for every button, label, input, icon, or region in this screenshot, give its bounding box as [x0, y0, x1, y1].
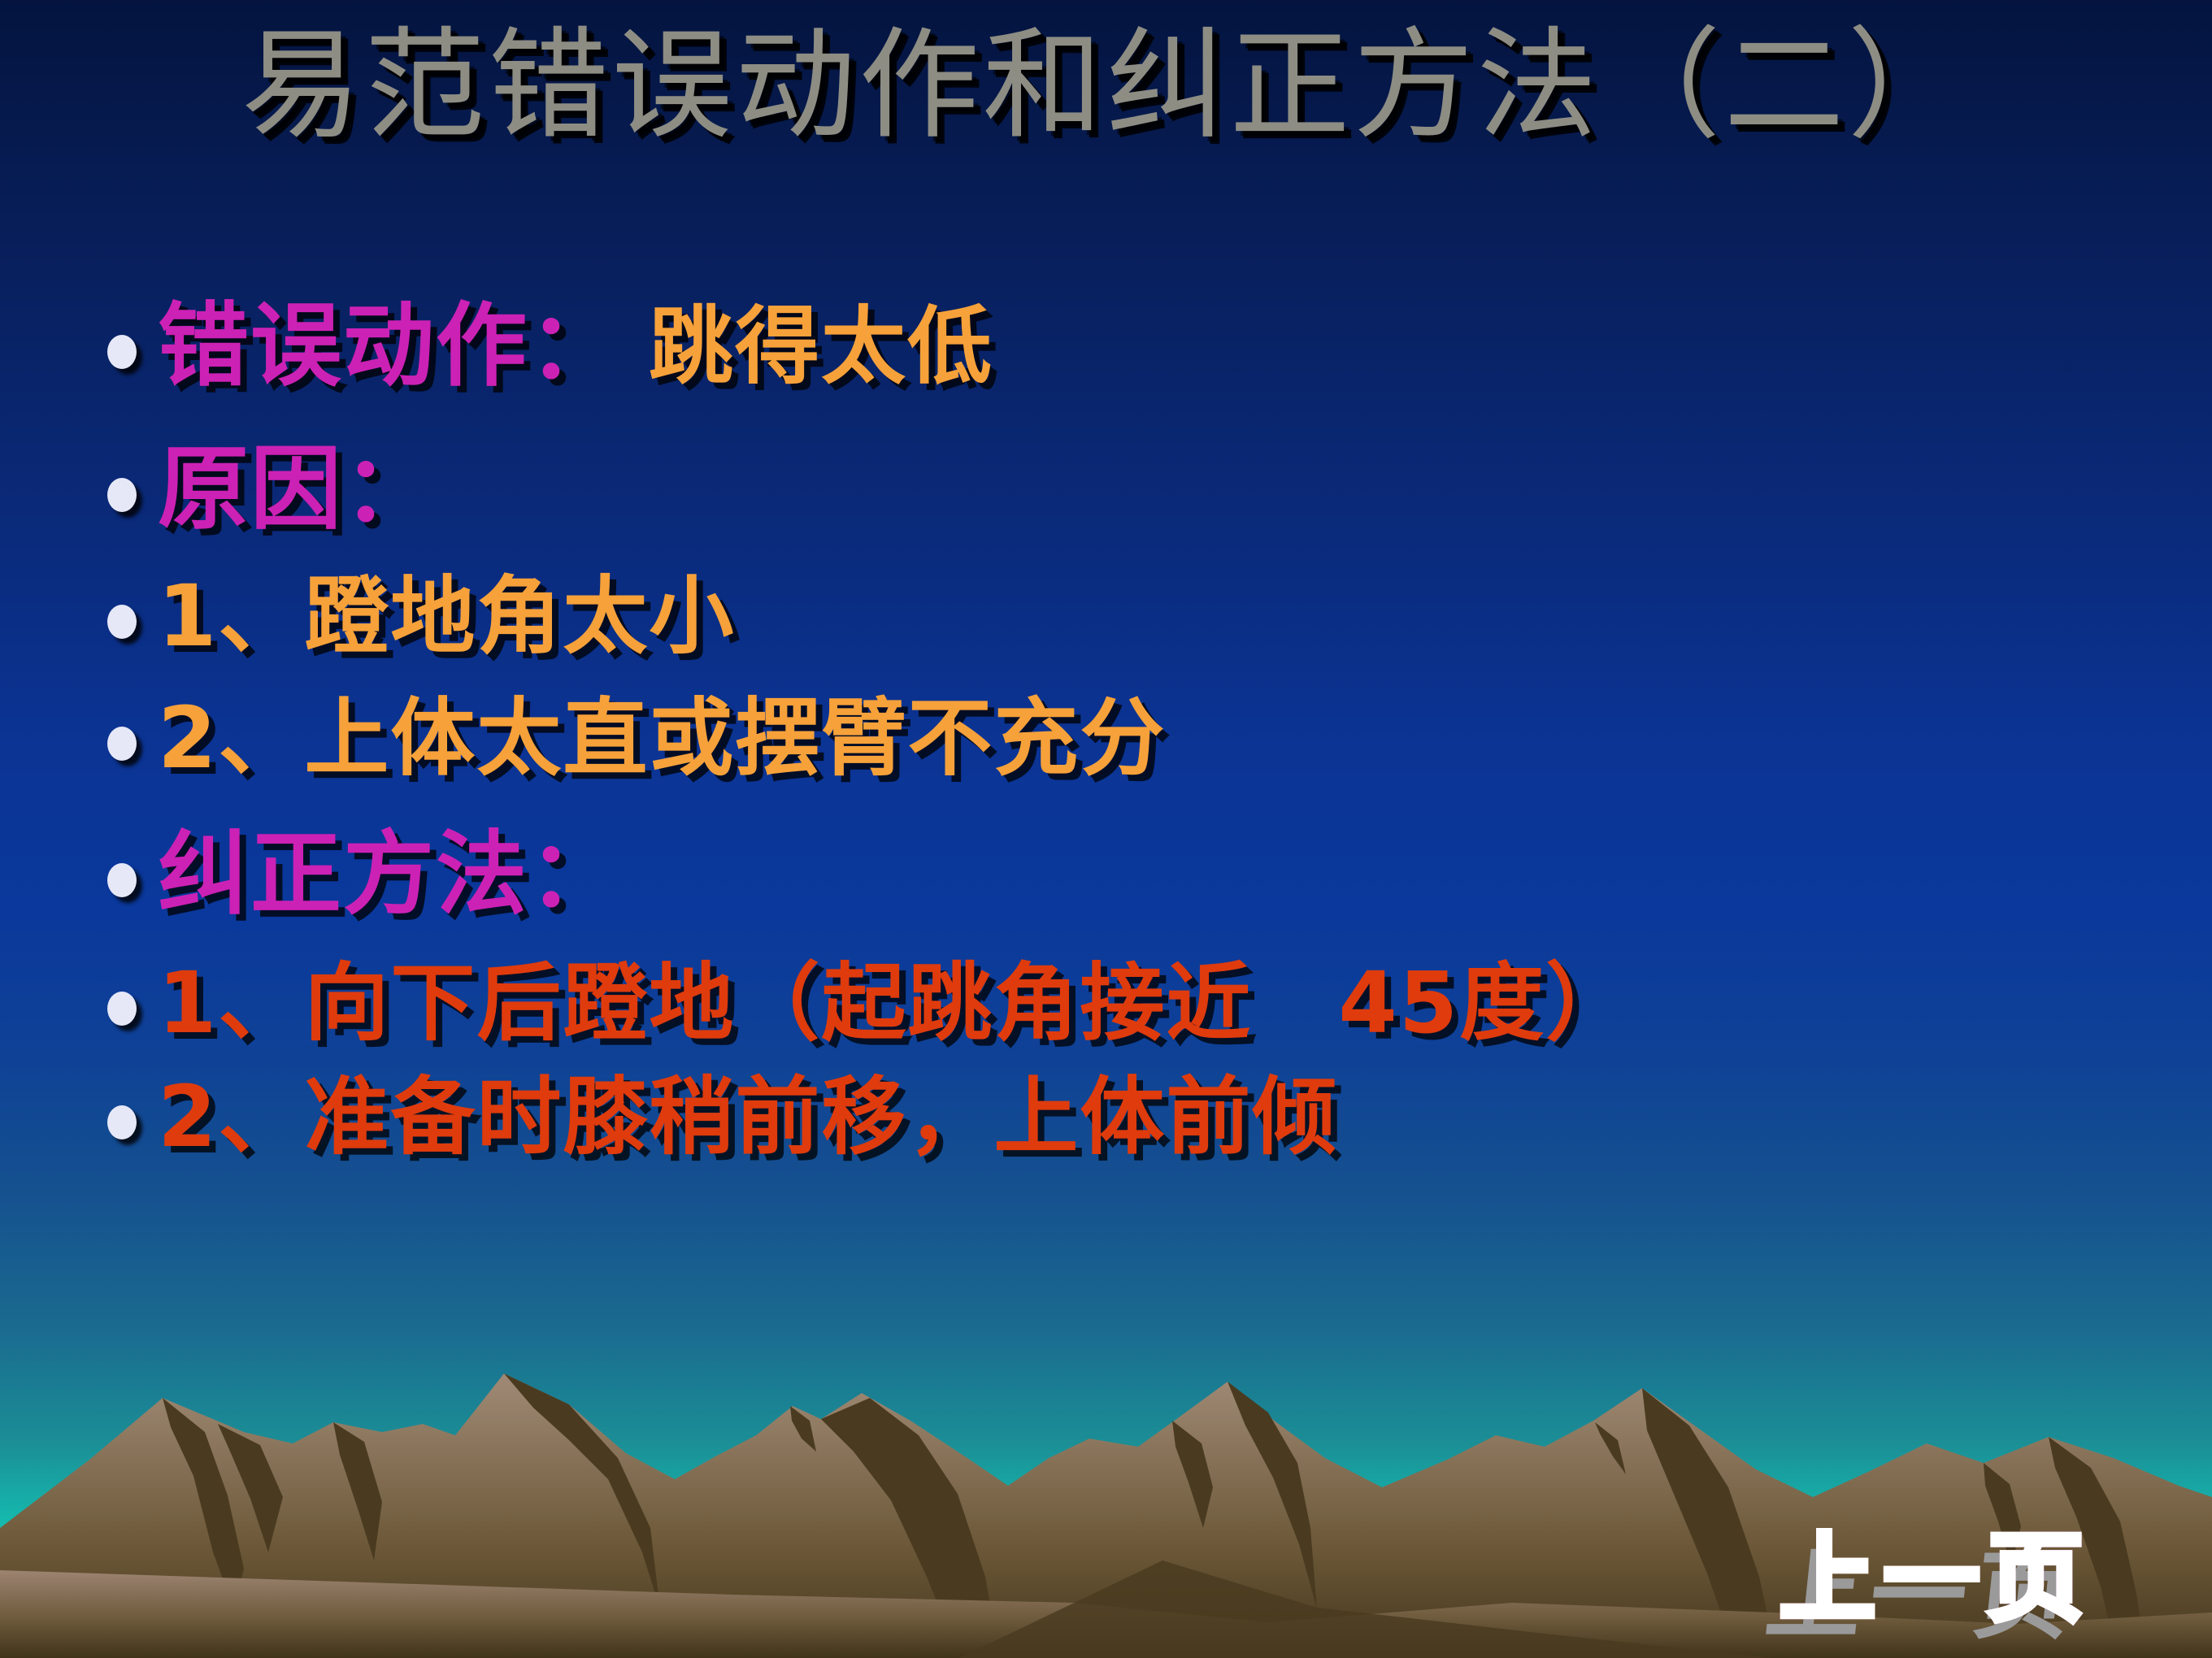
bullet-item-5: 纠正方法： — [106, 829, 2187, 920]
bullet-item-6: 1、向下后蹬地（起跳角接近 45度） — [106, 961, 2187, 1045]
bullet-list: 错误动作： 跳得太低 原因： 1、蹬地角太小 2、上体太直或摆臂不充分 纠正方法… — [106, 301, 2187, 1159]
bullet-item-3: 1、蹬地角太小 — [106, 574, 2187, 658]
previous-page-label: 上一页 — [1757, 1513, 2114, 1643]
bullet-4-text: 2、上体太直或摆臂不充分 — [158, 696, 1166, 780]
bullet-dot-icon — [106, 1099, 138, 1141]
bullet-1-label: 错误动作： — [158, 301, 621, 392]
bullet-5-label: 纠正方法： — [158, 829, 621, 920]
slide-title: 易范错误动作和纠正方法（二） — [0, 21, 2212, 151]
bullet-dot-icon — [106, 857, 138, 899]
bullet-6-text: 1、向下后蹬地（起跳角接近 45度） — [158, 961, 1632, 1045]
bullet-dot-icon — [106, 598, 138, 640]
bullet-item-2: 原因： — [106, 444, 2187, 535]
previous-page-button[interactable]: 上一页 上一页 — [1757, 1513, 2114, 1643]
bullet-1-value: 跳得太低 — [649, 304, 993, 388]
bullet-dot-icon — [106, 720, 138, 762]
bullet-item-4: 2、上体太直或摆臂不充分 — [106, 696, 2187, 780]
bullet-2-label: 原因： — [158, 444, 436, 535]
bullet-item-1: 错误动作： 跳得太低 — [106, 301, 2187, 392]
bullet-3-text: 1、蹬地角太小 — [158, 574, 735, 658]
bullet-item-7: 2、准备时膝稍前移，上体前倾 — [106, 1074, 2187, 1159]
bullet-7-text: 2、准备时膝稍前移，上体前倾 — [158, 1074, 1338, 1159]
bullet-dot-icon — [106, 985, 138, 1027]
bullet-dot-icon — [106, 471, 138, 514]
slide-canvas: 易范错误动作和纠正方法（二） 错误动作： 跳得太低 原因： 1、蹬地角太小 2、… — [0, 0, 2212, 1658]
bullet-dot-icon — [106, 328, 138, 371]
